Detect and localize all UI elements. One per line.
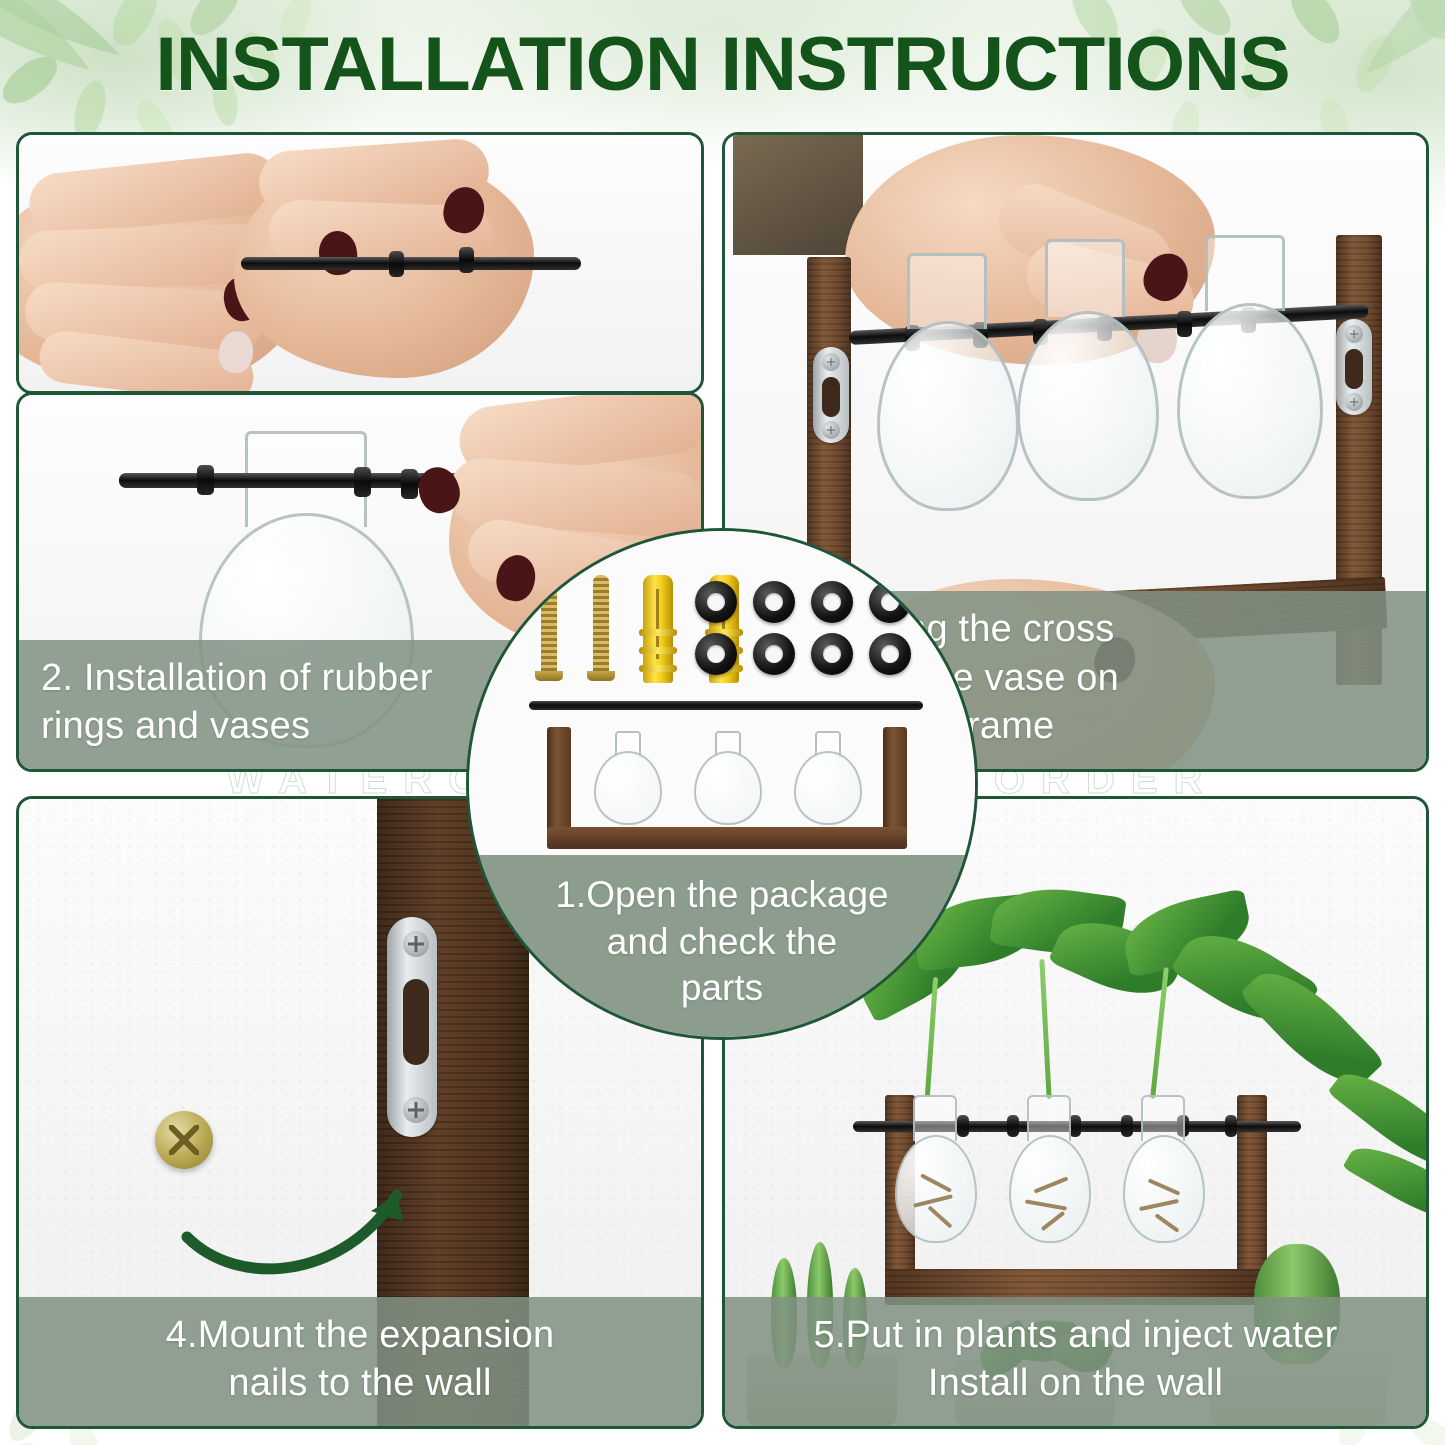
rubber-ring [1177,311,1192,337]
screw [539,575,559,681]
rubber-ring [197,465,214,495]
keyhole-plate [387,917,437,1137]
rubber-ring [695,633,737,675]
rubber-ring [695,581,737,623]
rubber-ring [753,633,795,675]
glass-vase [791,731,865,827]
rubber-ring [753,581,795,623]
hardware-row [539,575,913,687]
glass-vase [591,731,665,827]
rubber-ring [1007,1115,1019,1137]
caption-line: 1.Open the package [555,872,888,919]
rubber-ring [957,1115,969,1137]
plant-stem [1039,959,1051,1099]
page-title: INSTALLATION INSTRUCTIONS [0,22,1445,108]
caption-line: and check the [607,919,837,966]
arrow-icon [169,1129,439,1289]
wood-base [547,827,907,849]
rubber-ring [389,251,404,277]
rubber-ring [459,247,474,273]
caption-step-4: 4.Mount the expansion nails to the wall [19,1297,701,1426]
keyhole-plate-right [1336,319,1372,415]
rubber-ring [401,469,418,499]
wall-anchor [643,575,673,683]
caption-line: parts [681,965,763,1012]
parts-photo [469,531,975,855]
caption-step-1: 1.Open the package and check the parts [469,855,975,1037]
panel-step-1-parts-circle: 1.Open the package and check the parts [466,528,978,1040]
caption-line: 4.Mount the expansion [41,1311,679,1360]
wood-post-right [883,727,907,835]
rubber-rings-group [695,581,913,679]
rubber-ring [811,581,853,623]
rubber-ring [869,581,911,623]
rubber-ring [811,633,853,675]
wooden-frame-with-vases [547,727,907,849]
rubber-ring [354,467,371,497]
rubber-ring [869,633,911,675]
caption-line: Install on the wall [747,1359,1404,1408]
glass-vase [691,731,765,827]
wood-post-left [547,727,571,835]
rubber-ring [1225,1115,1237,1137]
photo-hands-rod-rings [19,135,701,391]
sleeve [733,135,863,255]
metal-rod [529,701,923,710]
caption-line: nails to the wall [41,1359,679,1408]
caption-line: 5.Put in plants and inject water [747,1311,1404,1360]
rubber-ring [1121,1115,1133,1137]
panel-step-1-photo [16,132,704,394]
caption-step-5: 5.Put in plants and inject water Install… [725,1297,1426,1426]
keyhole-plate-left [813,347,849,443]
infographic-page: INSTALLATION INSTRUCTIONS WATERCOLOR GRE… [0,0,1445,1445]
metal-rod [241,257,581,270]
screw [591,575,611,681]
